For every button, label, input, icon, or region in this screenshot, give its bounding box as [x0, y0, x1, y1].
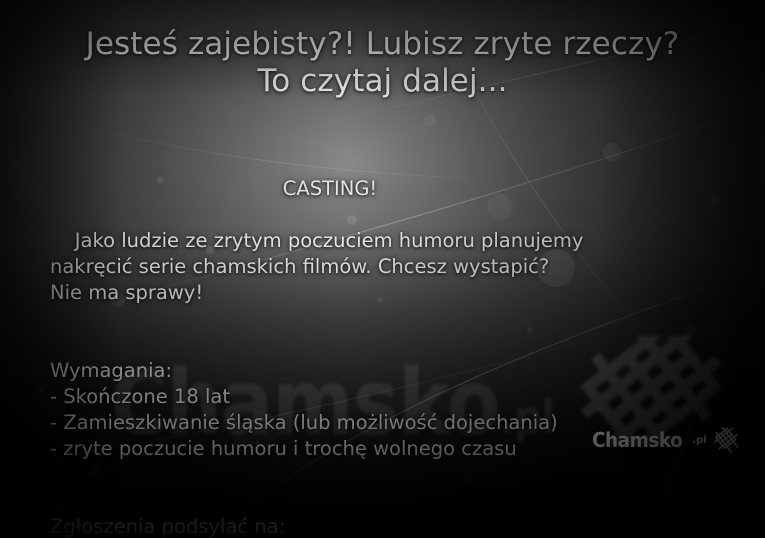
requirement-item-2: - Zamieszkiwanie śląska (lub możliwość d…	[50, 411, 558, 434]
poster-body: CASTING! Jako ludzie ze zrytym poczuciem…	[50, 124, 750, 538]
chamsko-logo-tld: .pl	[692, 435, 706, 446]
title-line-2: To czytaj dalej...	[0, 63, 765, 100]
lattice-icon	[714, 427, 740, 453]
requirements-label: Wymagania:	[50, 359, 172, 382]
intro-line-3: Nie ma sprawy!	[50, 281, 203, 304]
requirement-item-1: - Skończone 18 lat	[50, 385, 230, 408]
chamsko-logo-brand: Chamsko	[592, 428, 682, 452]
intro-line-1: Jako ludzie ze zrytym poczuciem humoru p…	[75, 229, 584, 252]
title-line-1: Jesteś zajebisty?! Lubisz zryte rzeczy?	[0, 26, 765, 63]
spacer-1	[50, 306, 750, 332]
intro-line-2: nakręcić serie chamskich filmów. Chcesz …	[50, 255, 549, 278]
casting-heading: CASTING!	[50, 176, 610, 202]
chamsko-logo[interactable]: Chamsko.pl	[592, 427, 740, 453]
poster-image: Chamsko.pl Jesteś zajebisty?! Lubisz zry…	[0, 0, 765, 538]
spacer-2	[50, 462, 750, 488]
requirement-item-3: - zryte poczucie humoru i trochę wolnego…	[50, 437, 517, 460]
contact-label: Zgłoszenia podsyłać na:	[50, 515, 285, 538]
poster-title: Jesteś zajebisty?! Lubisz zryte rzeczy? …	[0, 26, 765, 100]
